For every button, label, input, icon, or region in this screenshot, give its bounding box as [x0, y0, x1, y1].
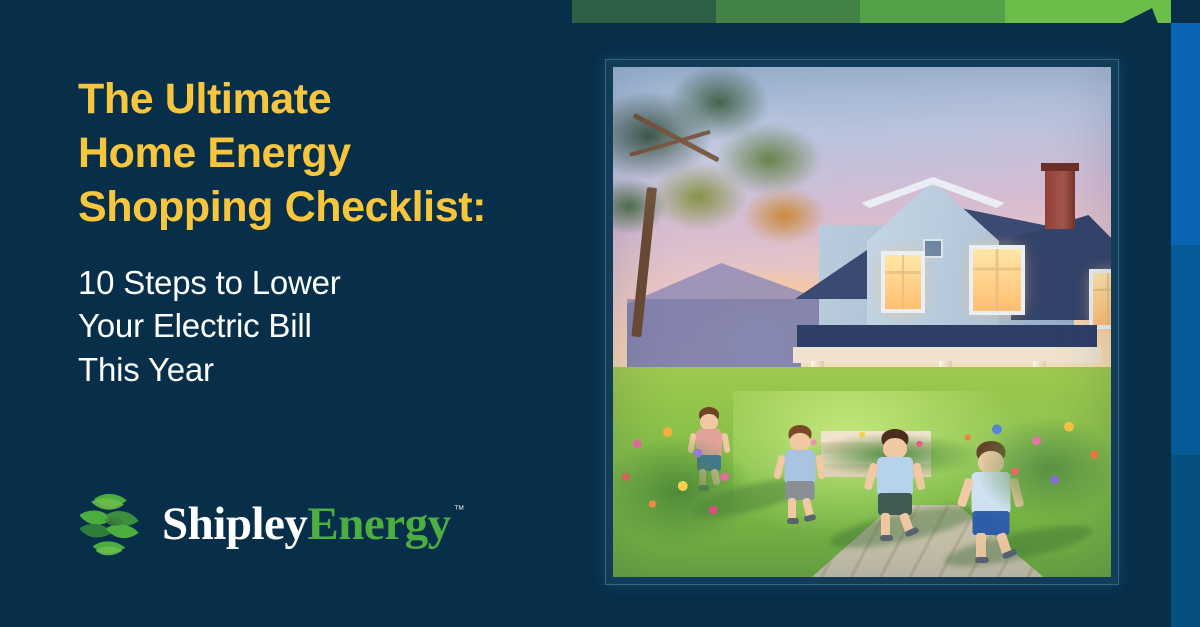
blue-bar-3 — [1171, 455, 1200, 627]
illustration-frame — [606, 60, 1118, 584]
brick-chimney — [1045, 167, 1075, 229]
blue-bar-2 — [1171, 245, 1200, 455]
flower-bed-left — [613, 399, 793, 549]
subheadline-line-1: 10 Steps to Lower — [78, 261, 548, 305]
green-bar-4 — [1005, 0, 1168, 23]
subheadline-line-3: This Year — [78, 348, 548, 392]
child-shorts — [878, 493, 912, 515]
child-shoe — [975, 557, 989, 563]
logo-word-shipley: Shipley — [162, 497, 307, 551]
illustration-canvas — [613, 67, 1111, 577]
text-column: The Ultimate Home Energy Shopping Checkl… — [78, 72, 548, 392]
page-title: The Ultimate Home Energy Shopping Checkl… — [78, 72, 548, 235]
headline-line-3: Shopping Checklist: — [78, 180, 548, 234]
blue-bar-1 — [1171, 23, 1200, 245]
shipley-leaf-weave-icon — [72, 487, 146, 561]
gable-vent — [925, 241, 941, 256]
child-shoe — [880, 535, 893, 541]
headline-line-2: Home Energy — [78, 126, 548, 180]
flower-bed-right — [943, 393, 1111, 533]
trademark-symbol: ™ — [454, 504, 465, 516]
child-leg — [881, 513, 890, 537]
green-bar-1 — [572, 0, 716, 23]
child-3 — [871, 429, 919, 541]
lit-window — [973, 249, 1021, 311]
child-shirt — [877, 457, 913, 495]
child-shoe — [803, 514, 816, 523]
logo-word-energy: Energy — [307, 497, 450, 551]
child-leg — [976, 533, 986, 559]
green-bar-2 — [716, 0, 860, 23]
green-corner-notch — [1149, 0, 1171, 23]
subheadline-line-2: Your Electric Bill — [78, 304, 548, 348]
page-subtitle: 10 Steps to Lower Your Electric Bill Thi… — [78, 261, 548, 393]
headline-line-1: The Ultimate — [78, 72, 548, 126]
child-head — [883, 438, 907, 459]
lit-window — [1093, 273, 1111, 325]
promo-banner: The Ultimate Home Energy Shopping Checkl… — [0, 0, 1200, 627]
chimney-cap — [1041, 163, 1079, 171]
logo-wordmark: Shipley Energy ™ — [162, 497, 464, 551]
lit-window — [885, 255, 921, 309]
green-bar-3 — [860, 0, 1005, 23]
brand-logo[interactable]: Shipley Energy ™ — [72, 487, 464, 561]
